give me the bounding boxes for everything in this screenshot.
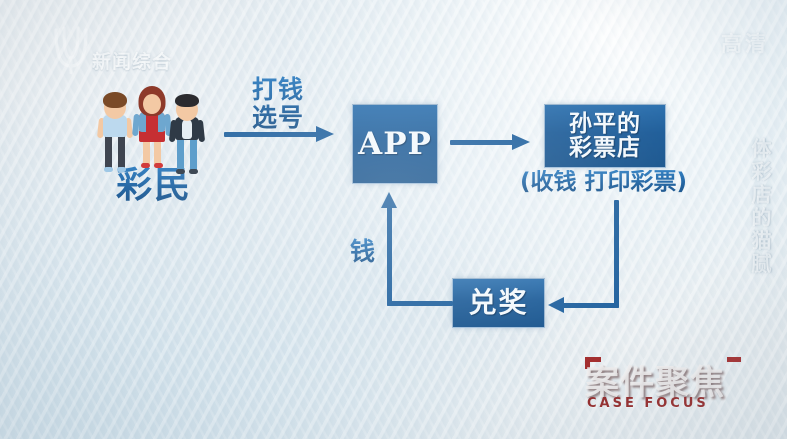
arrow-app-to-shop xyxy=(450,133,546,153)
edge-label-players-to-app: 打钱 选号 xyxy=(252,76,304,131)
channel-logo-text: 新闻综合 xyxy=(92,47,172,74)
channel-logo: 新闻综合 xyxy=(48,24,218,80)
side-caption: 体彩店的猫腻 xyxy=(746,138,775,276)
channel-logo-mark xyxy=(48,24,94,74)
node-app: APP xyxy=(352,104,438,184)
video-frame: 新闻综合 高清 体彩店的猫腻 xyxy=(0,0,787,439)
arrow-redeem-to-app xyxy=(378,192,458,316)
arrow-shop-to-redeem xyxy=(548,200,628,320)
lottery-players-illustration xyxy=(96,80,208,172)
node-app-label: APP xyxy=(358,128,432,161)
person-right xyxy=(168,90,206,172)
node-redeem: 兑奖 xyxy=(452,278,545,328)
node-shop-subtitle: (收钱 打印彩票) xyxy=(520,170,687,195)
node-shop-label: 孙平的 彩票店 xyxy=(569,112,641,161)
arrow-players-to-app xyxy=(224,124,336,144)
person-left xyxy=(96,88,134,172)
node-shop: 孙平的 彩票店 xyxy=(544,104,666,168)
hd-badge: 高清 xyxy=(721,28,769,58)
person-center xyxy=(132,82,172,172)
program-logo-en: CASE FOCUS xyxy=(587,396,709,411)
program-logo: 案件聚焦 CASE FOCUS xyxy=(585,355,745,417)
edge-label-redeem-to-app: 钱 xyxy=(350,238,375,266)
node-redeem-label: 兑奖 xyxy=(468,288,528,318)
